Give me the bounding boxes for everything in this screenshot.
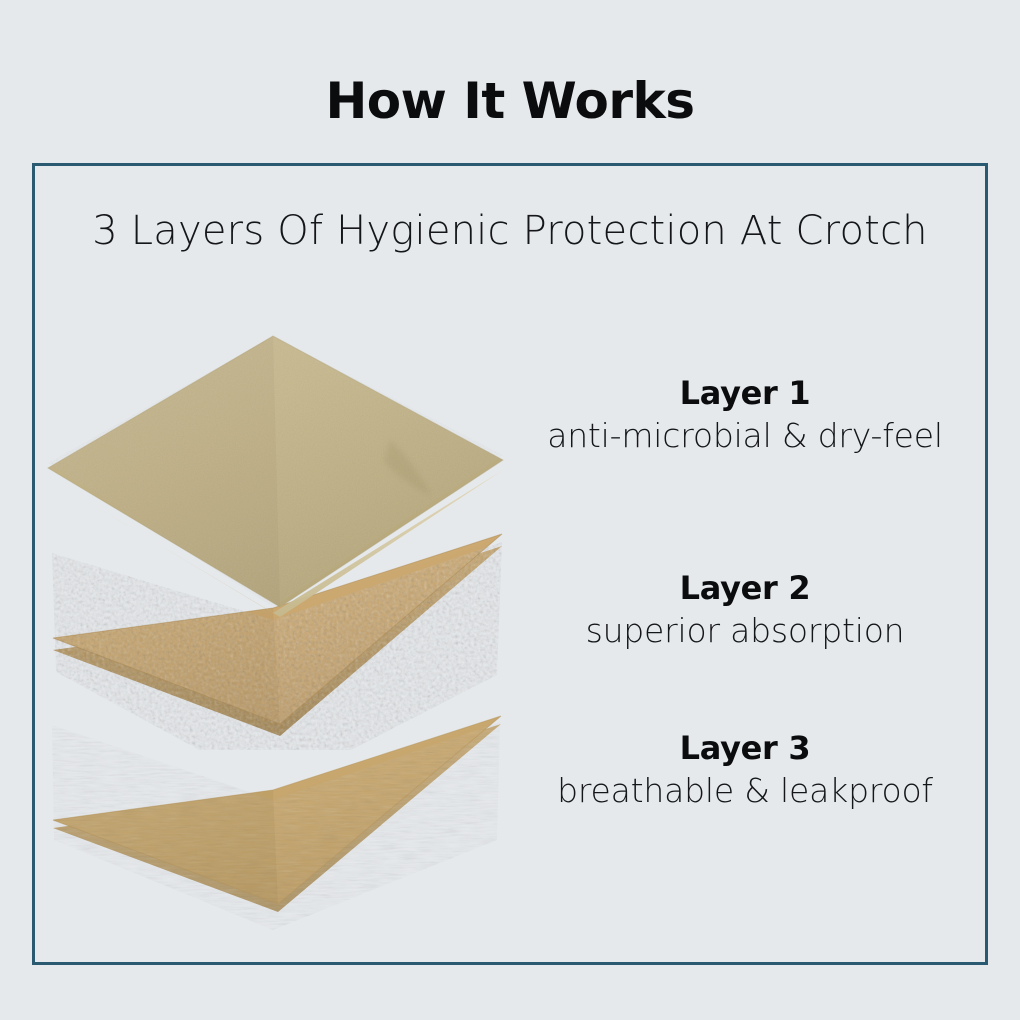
layer-diagram-svg <box>40 320 520 940</box>
caption-layer-1-description: anti-microbial & dry-feel <box>510 416 980 456</box>
caption-layer-1-title: Layer 1 <box>510 375 980 412</box>
page-title: How It Works <box>0 72 1020 130</box>
caption-layer-3: Layer 3 breathable & leakproof <box>510 730 980 810</box>
caption-layer-2-description: superior absorption <box>510 611 980 651</box>
caption-column: Layer 1 anti-microbial & dry-feel Layer … <box>510 330 980 930</box>
caption-layer-2-title: Layer 2 <box>510 570 980 607</box>
how-it-works-infographic: How It Works 3 Layers Of Hygienic Protec… <box>0 0 1020 1020</box>
caption-layer-2: Layer 2 superior absorption <box>510 570 980 650</box>
subtitle: 3 Layers Of Hygienic Protection At Crotc… <box>32 208 988 254</box>
caption-layer-3-description: breathable & leakproof <box>510 771 980 811</box>
caption-layer-1: Layer 1 anti-microbial & dry-feel <box>510 375 980 455</box>
caption-layer-3-title: Layer 3 <box>510 730 980 767</box>
layer-diagram <box>40 320 520 940</box>
